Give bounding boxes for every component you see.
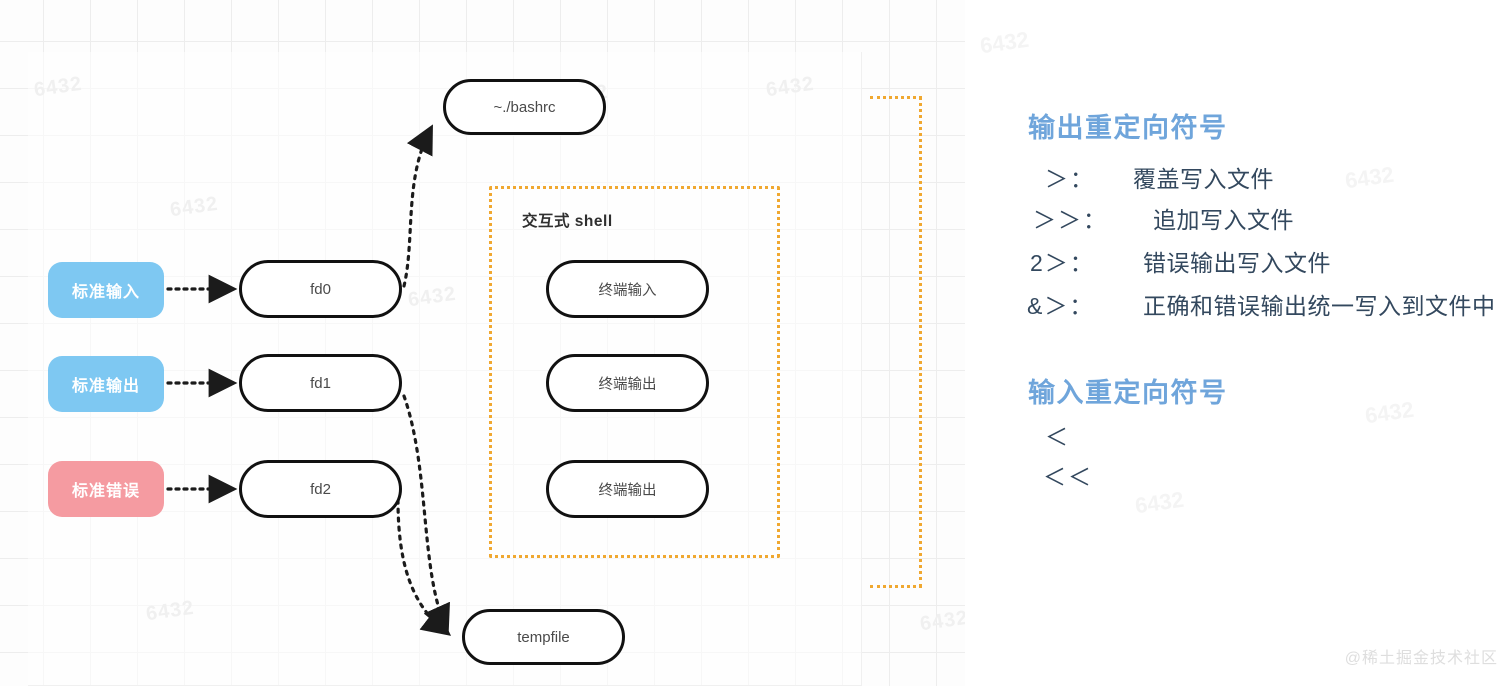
node-label: tempfile (517, 629, 570, 646)
node-bashrc[interactable]: ~./bashrc (443, 79, 606, 135)
pill-label: 标准输入 (72, 278, 140, 302)
node-label: fd0 (310, 281, 331, 298)
pill-standard-error[interactable]: 标准错误 (48, 461, 164, 517)
symbol-append: ＞＞： (1033, 201, 1108, 235)
orange-bracket (870, 96, 922, 588)
node-fd0[interactable]: fd0 (239, 260, 402, 318)
node-label: fd2 (310, 481, 331, 498)
watermark: 6432 (1343, 162, 1395, 195)
node-terminal-input[interactable]: 终端输入 (546, 260, 709, 318)
watermark: 6432 (1363, 397, 1415, 430)
watermark: 6432 (1133, 487, 1185, 520)
desc-all-redirect: 正确和错误输出统一写入到文件中 (1143, 287, 1496, 321)
pill-label: 标准错误 (72, 477, 140, 501)
page-root: 6432 6432 6432 6432 6432 6432 6432 6432 (0, 0, 1512, 686)
node-fd1[interactable]: fd1 (239, 354, 402, 412)
diagram-canvas: 6432 6432 6432 6432 6432 6432 6432 6432 (0, 0, 965, 686)
heading-input-redirection: 输入重定向符号 (1028, 371, 1228, 410)
watermark-credit: @稀土掘金技术社区 (1345, 644, 1498, 668)
node-label: 终端输出 (599, 479, 657, 500)
desc-append: 追加写入文件 (1153, 201, 1294, 235)
symbol-all-redirect: &＞： (1027, 287, 1094, 321)
pill-standard-output[interactable]: 标准输出 (48, 356, 164, 412)
node-fd2[interactable]: fd2 (239, 460, 402, 518)
pill-label: 标准输出 (72, 372, 140, 396)
symbol-stderr-redirect: 2＞： (1030, 244, 1095, 278)
node-label: 终端输入 (599, 279, 657, 300)
edge-fd1-tempfile (404, 396, 446, 628)
watermark: 6432 (978, 27, 1030, 60)
heading-output-redirection: 输出重定向符号 (1028, 106, 1228, 145)
node-label: fd1 (310, 375, 331, 392)
node-tempfile[interactable]: tempfile (462, 609, 625, 665)
symbol-overwrite: ＞： (1045, 160, 1095, 194)
node-label: ~./bashrc (493, 99, 555, 116)
desc-overwrite: 覆盖写入文件 (1133, 160, 1274, 194)
symbol-input-heredoc: ＜＜ (1043, 458, 1093, 492)
desc-stderr-redirect: 错误输出写入文件 (1143, 244, 1331, 278)
node-terminal-output-2[interactable]: 终端输出 (546, 460, 709, 518)
node-label: 终端输出 (599, 373, 657, 394)
edge-fd0-bashrc (404, 130, 430, 286)
symbol-input-single: ＜ (1045, 418, 1070, 452)
node-terminal-output-1[interactable]: 终端输出 (546, 354, 709, 412)
legend-panel: 6432 6432 6432 6432 输出重定向符号 ＞： 覆盖写入文件 ＞＞… (965, 0, 1512, 686)
pill-standard-input[interactable]: 标准输入 (48, 262, 164, 318)
